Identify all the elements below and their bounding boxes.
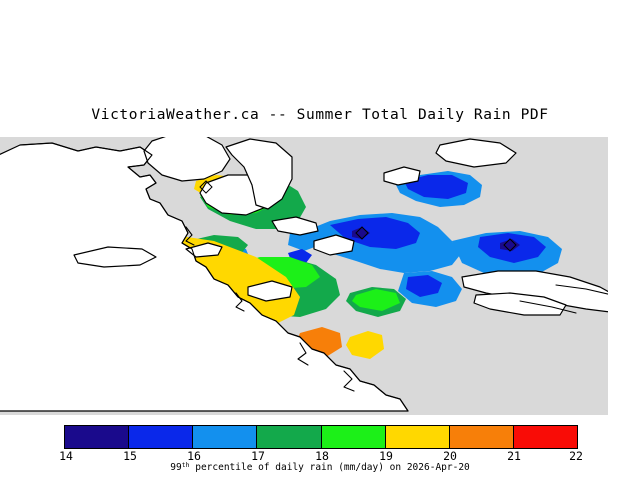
colorbar-caption-rest: percentile of daily rain (mm/day) on 202… [190, 462, 470, 473]
map-canvas [0, 137, 608, 415]
weather-map-figure: VictoriaWeather.ca -- Summer Total Daily… [0, 0, 640, 480]
colorbar-band-20-21 [450, 426, 514, 448]
colorbar-band-18-19 [322, 426, 386, 448]
colorbar-band-19-20 [386, 426, 450, 448]
colorbar-caption-ordinal: th [182, 461, 190, 469]
colorbar-caption: 99th percentile of daily rain (mm/day) o… [0, 461, 640, 473]
map-panel [0, 137, 608, 415]
colorbar-band-17-18 [257, 426, 321, 448]
colorbar-bands [64, 425, 578, 449]
page-title: VictoriaWeather.ca -- Summer Total Daily… [0, 107, 640, 123]
colorbar-band-15-16 [129, 426, 193, 448]
colorbar-band-21-22 [514, 426, 577, 448]
colorbar-band-16-17 [193, 426, 257, 448]
colorbar [64, 425, 578, 449]
colorbar-band-14-15 [65, 426, 129, 448]
colorbar-caption-prefix: 99 [170, 462, 181, 473]
